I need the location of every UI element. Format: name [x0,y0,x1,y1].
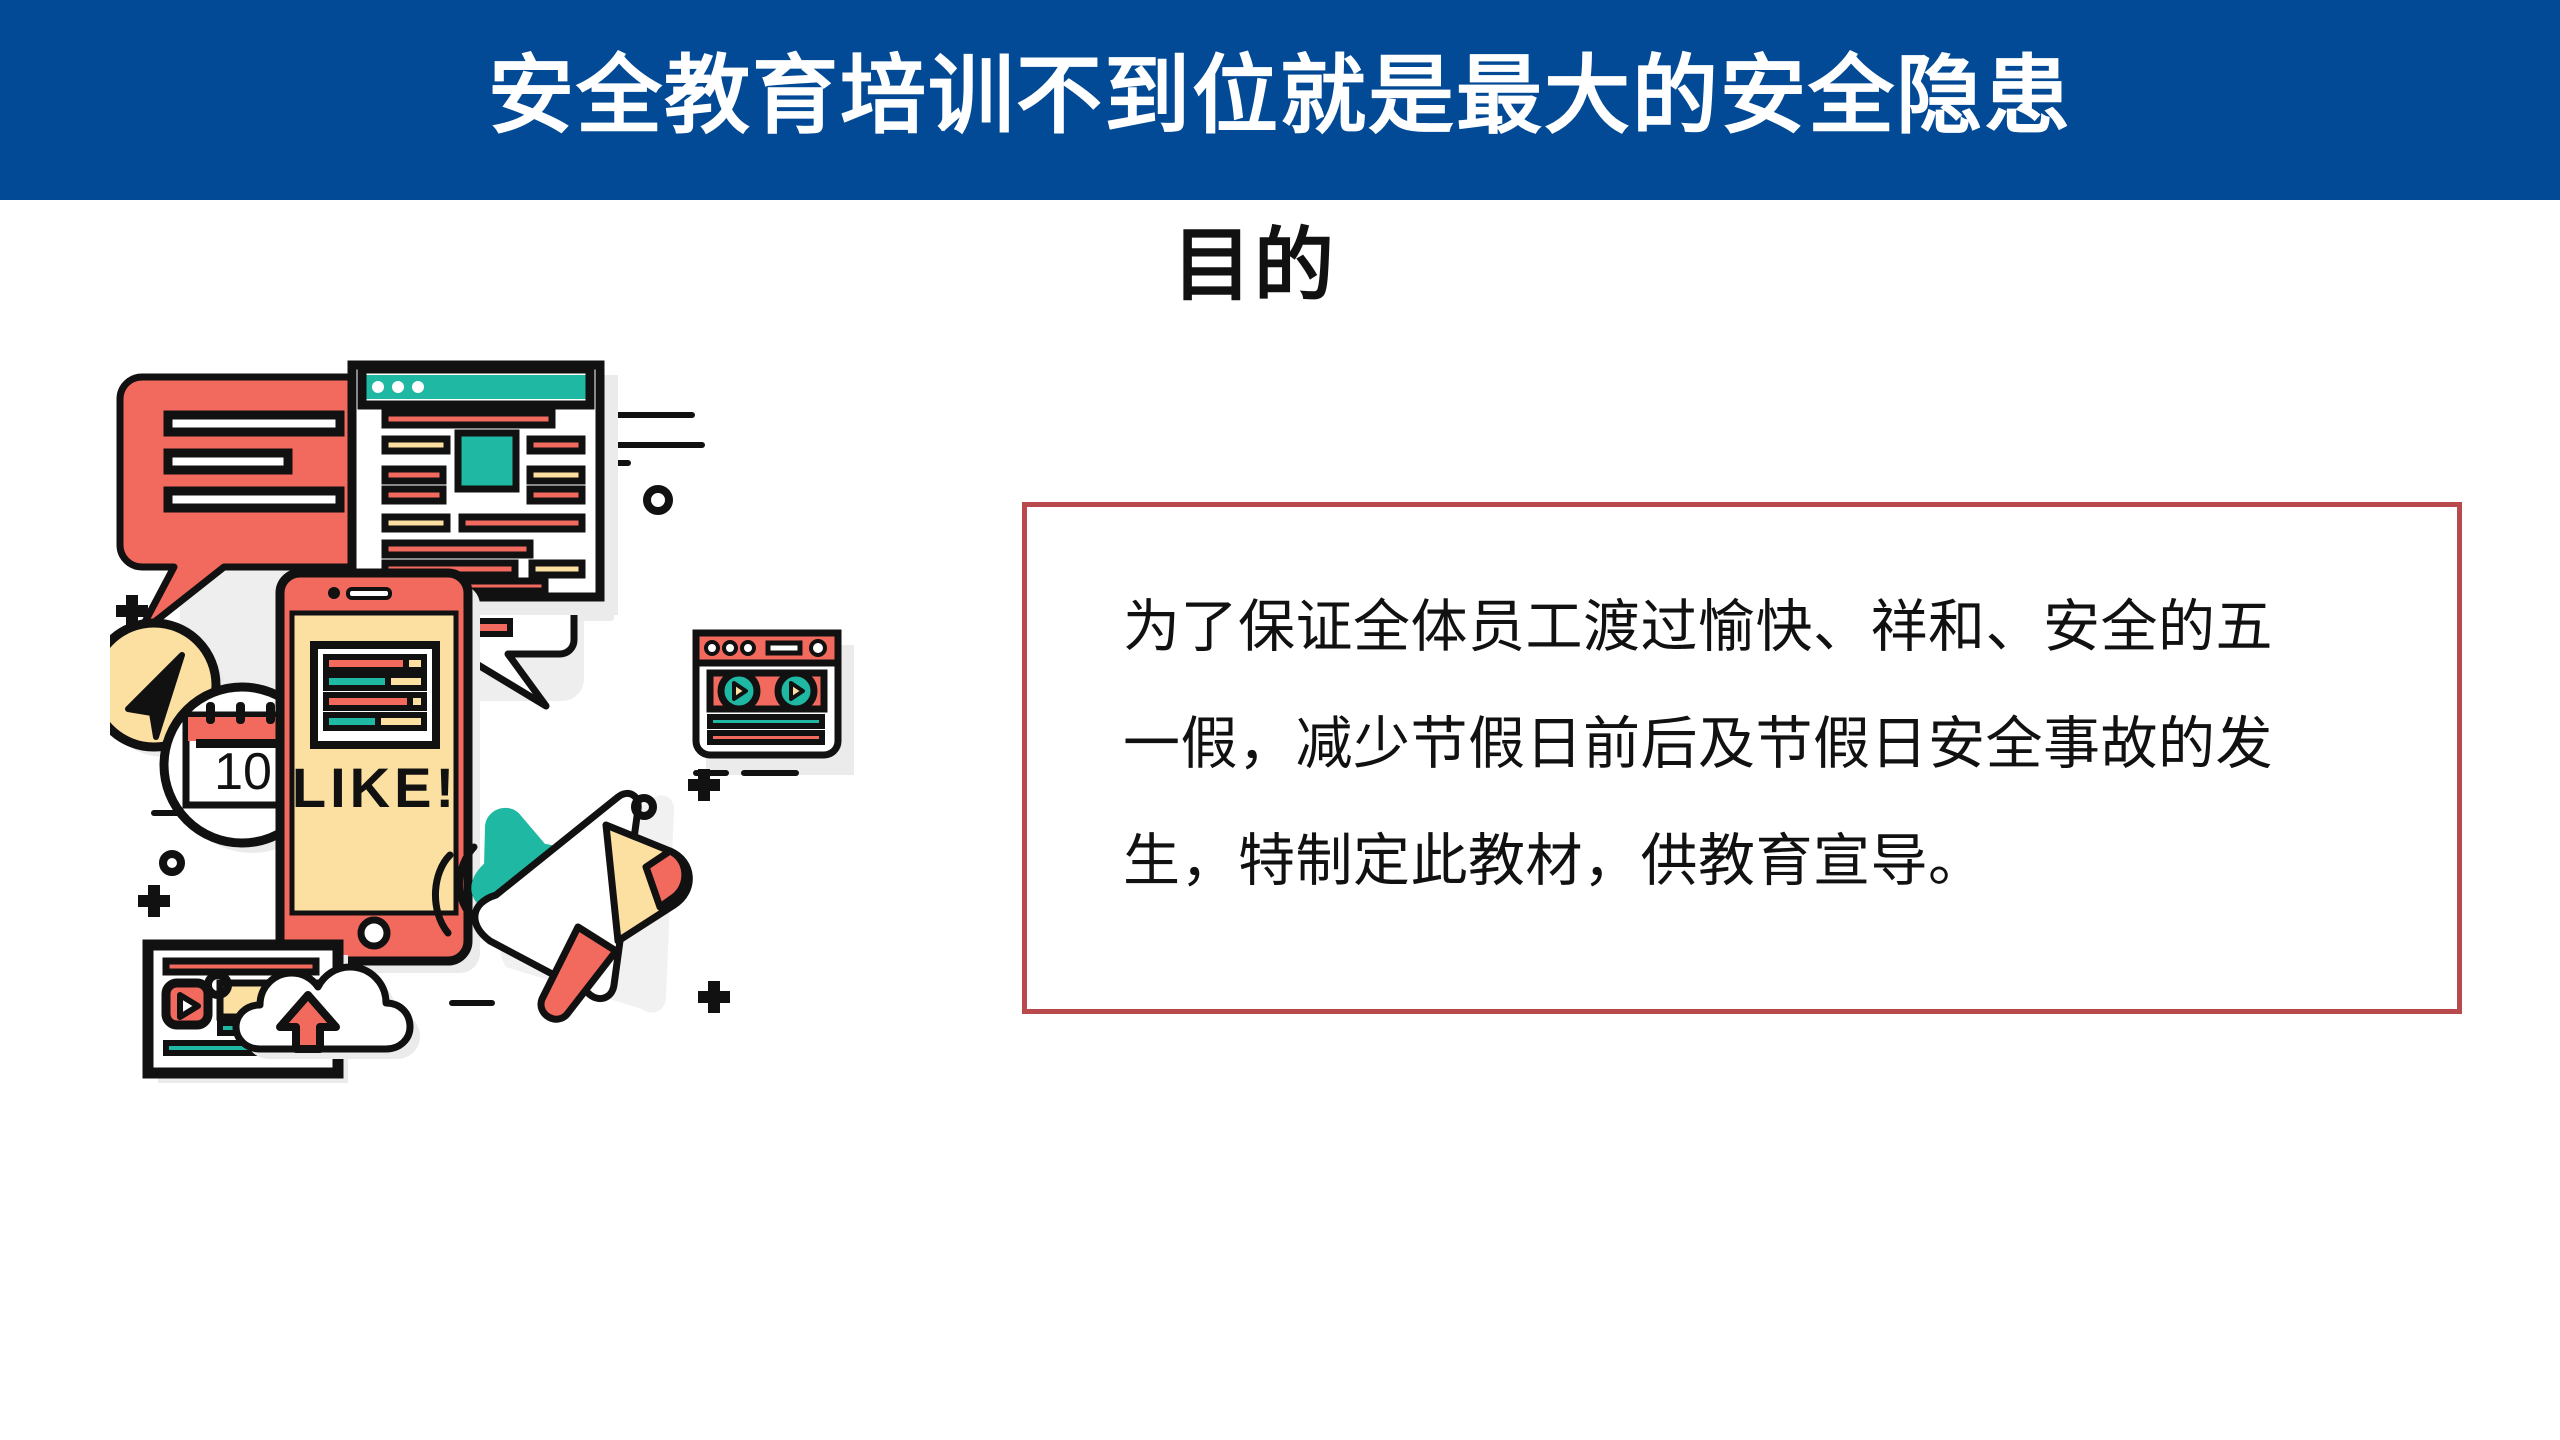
tablet-screen-label: LIKE! [292,756,458,819]
content-text-line: 生，特制定此教材，供教育宣导。 [1123,803,2423,920]
decorative-marks-lower [138,813,181,917]
illustration-digital-media: .bk { fill:none; stroke:#111; stroke-wid… [110,355,920,1105]
tablet-device: LIKE! [280,573,480,973]
window-dot [372,381,384,393]
page-title: 安全教育培训不到位就是最大的安全隐患 [488,53,2072,139]
content-text-line: 为了保证全体员工渡过愉快、祥和、安全的五 [1123,569,2423,686]
content-text: 为了保证全体员工渡过愉快、祥和、安全的五 一假，减少节假日前后及节假日安全事故的… [1123,569,2423,920]
content-box: 为了保证全体员工渡过愉快、祥和、安全的五 一假，减少节假日前后及节假日安全事故的… [1022,502,2462,1014]
calendar-day-label: 10 [214,743,272,801]
window-dot [412,381,424,393]
header-banner: 安全教育培训不到位就是最大的安全隐患 [0,0,2560,200]
media-player-window [696,633,854,775]
section-heading: 目的 [1172,222,1336,310]
content-text-line: 一假，减少节假日前后及节假日安全事故的发 [1123,686,2423,803]
window-dot [392,381,404,393]
